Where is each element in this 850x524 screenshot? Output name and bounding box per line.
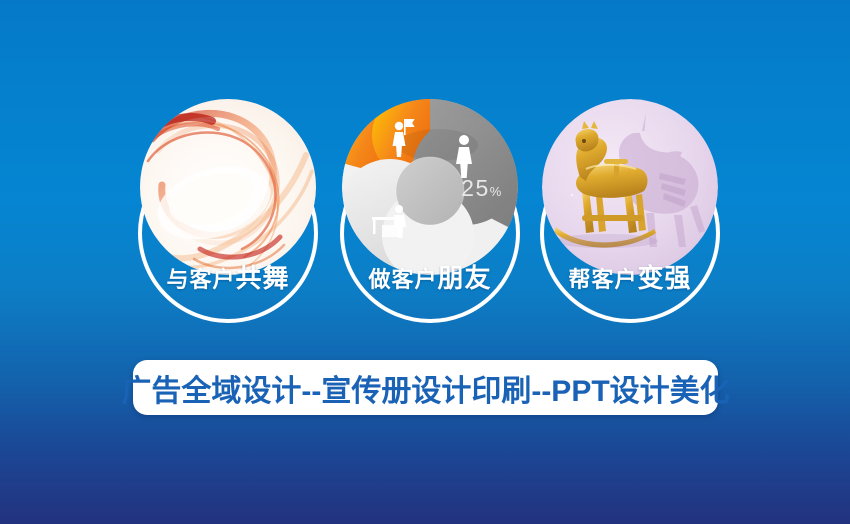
poster-canvas: 与客户共舞 [0,0,850,524]
orange-red-smoke-swirl-icon [140,99,316,275]
feature-label: 与客户共舞 [130,263,326,295]
feature-label-lead: 与客户 [166,267,235,292]
feature-card-help-customer-grow-strong[interactable]: 帮客户变强 [532,95,728,335]
feature-card-be-customer-friend[interactable]: 25% 做客户朋友 [332,95,528,335]
banner-text: 广告全域设计--宣传册设计印刷--PPT设计美化 [121,366,729,410]
bottom-banner[interactable]: 广告全域设计--宣传册设计印刷--PPT设计美化 [133,360,718,415]
feature-label-emph: 朋友 [438,263,492,293]
golden-rocking-horse-icon [542,99,718,275]
feature-label-lead: 帮客户 [568,267,637,292]
feature-card-dance-with-customer[interactable]: 与客户共舞 [130,95,326,335]
feature-circle-group: 与客户共舞 [0,0,850,350]
feature-image-rocking-horse [542,99,718,275]
feature-label-emph: 共舞 [236,263,290,293]
infographic-circles-icon: 25% [342,99,518,275]
feature-image-infographic: 25% [342,99,518,275]
feature-label: 做客户朋友 [332,263,528,295]
feature-label: 帮客户变强 [532,263,728,295]
feature-label-lead: 做客户 [368,267,437,292]
feature-label-emph: 变强 [638,263,692,293]
feature-image-smoke-swirl [140,99,316,275]
